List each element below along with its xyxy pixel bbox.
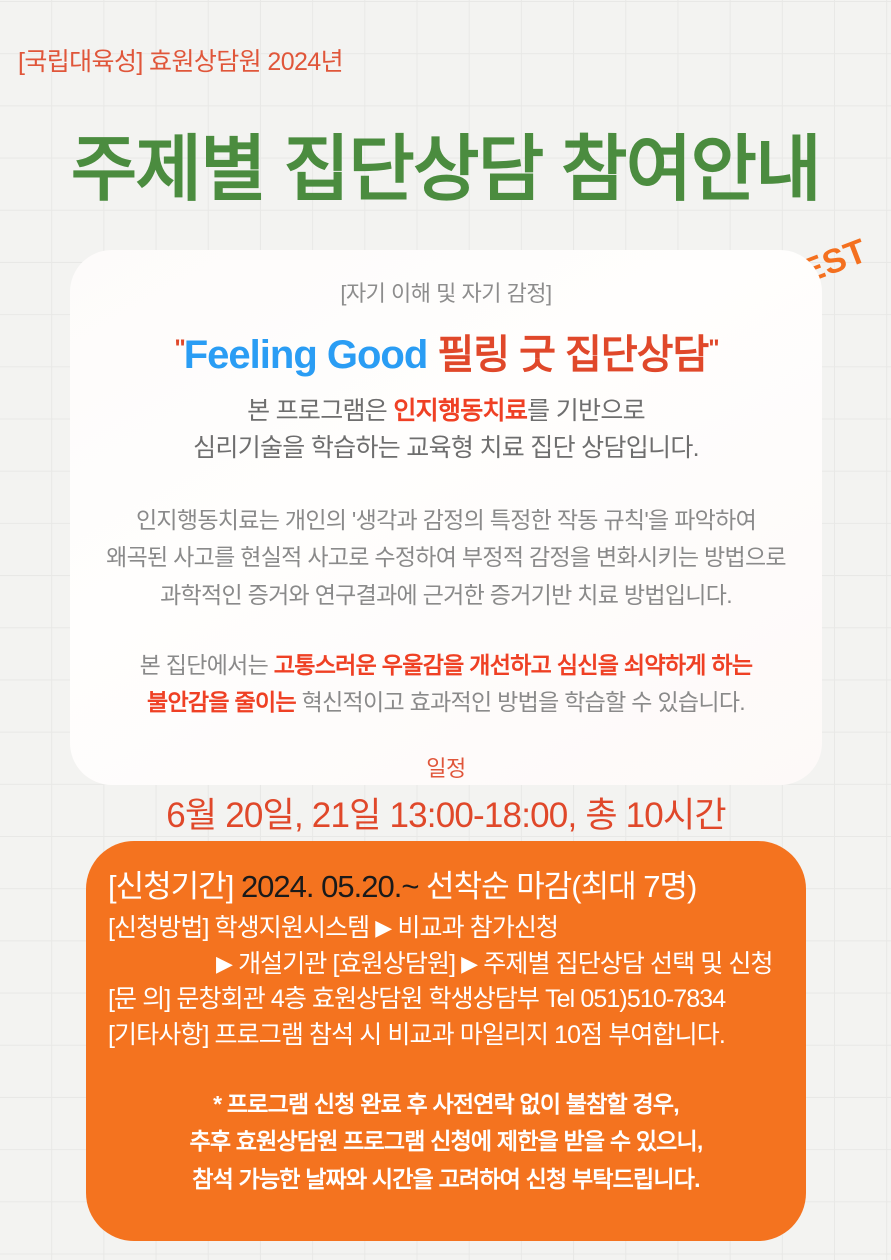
extra-info-line: [기타사항] 프로그램 참석 시 비교과 마일리지 10점 부여합니다. xyxy=(108,1018,784,1054)
contact-label: [문 의] xyxy=(108,985,170,1013)
application-method-line-1: [신청방법] 학생지원시스템 ▶ 비교과 참가신청 xyxy=(108,911,784,947)
triangle-right-icon: ▶ xyxy=(216,951,232,976)
benefit-pre: 본 집단에서는 xyxy=(140,652,274,678)
application-method-step1: 비교과 참가신청 xyxy=(397,914,558,942)
application-method-step2: 개설기관 [효원상담원] xyxy=(238,950,455,978)
notice-line3: 참석 가능한 날짜와 시간을 고려하여 신청 부탁드립니다. xyxy=(192,1166,699,1192)
page-title: 주제별 집단상담 참여안내 xyxy=(0,110,891,215)
program-info-card: [자기 이해 및 자기 감정] "Feeling Good 필링 굿 집단상담"… xyxy=(70,250,822,785)
application-method-system: 학생지원시스템 xyxy=(215,914,370,942)
extra-info-label: [기타사항] xyxy=(108,1021,209,1049)
lead-line1-post: 를 기반으로 xyxy=(527,397,645,425)
application-panel: [신청기간] 2024. 05.20.~ 선착순 마감(최대 7명) [신청방법… xyxy=(86,841,806,1241)
benefit-highlight-2: 불안감을 줄이는 xyxy=(147,689,296,715)
description-line2: 왜곡된 사고를 현실적 사고로 수정하여 부정적 감정을 변화시키는 방법으로 xyxy=(106,544,786,570)
card-eyebrow-label: [자기 이해 및 자기 감정] xyxy=(70,276,822,308)
program-benefits: 본 집단에서는 고통스러운 우울감을 개선하고 심신을 쇠약하게 하는 불안감을… xyxy=(70,647,822,722)
application-method-line-2: ▶ 개설기관 [효원상담원] ▶ 주제별 집단상담 선택 및 신청 xyxy=(108,947,784,983)
schedule-value: 6월 20일, 21일 13:00-18:00, 총 10시간 xyxy=(70,787,822,838)
application-method-label: [신청방법] xyxy=(108,914,209,942)
contact-line: [문 의] 문창회관 4층 효원상담원 학생상담부 Tel 051)510-78… xyxy=(108,982,784,1018)
program-title-english: Feeling Good xyxy=(184,333,428,377)
notice-line1: * 프로그램 신청 완료 후 사전연락 없이 불참할 경우, xyxy=(213,1091,679,1117)
close-quote: " xyxy=(708,335,717,362)
triangle-right-icon: ▶ xyxy=(375,915,391,940)
application-period-label: [신청기간] xyxy=(108,869,233,904)
extra-info-text: 프로그램 참석 시 비교과 마일리지 10점 부여합니다. xyxy=(215,1021,725,1049)
program-lead-text: 본 프로그램은 인지행동치료를 기반으로 심리기술을 학습하는 교육형 치료 집… xyxy=(70,393,822,466)
benefit-highlight-1: 고통스러운 우울감을 개선하고 심신을 쇠약하게 하는 xyxy=(274,652,753,678)
cancellation-notice: * 프로그램 신청 완료 후 사전연락 없이 불참할 경우, 추후 효원상담원 … xyxy=(108,1086,784,1198)
program-title-korean: 필링 굿 집단상담 xyxy=(437,333,708,377)
organization-line: [국립대육성] 효원상담원 2024년 xyxy=(18,42,343,78)
description-line1: 인지행동치료는 개인의 '생각과 감정의 특정한 작동 규칙'을 파악하여 xyxy=(136,507,756,533)
lead-line2: 심리기술을 학습하는 교육형 치료 집단 상담입니다. xyxy=(193,434,699,462)
application-period-line: [신청기간] 2024. 05.20.~ 선착순 마감(최대 7명) xyxy=(108,865,784,909)
description-line3: 과학적인 증거와 연구결과에 근거한 증거기반 치료 방법입니다. xyxy=(160,582,732,608)
notice-line2: 추후 효원상담원 프로그램 신청에 제한을 받을 수 있으니, xyxy=(189,1128,702,1154)
open-quote: " xyxy=(174,335,183,362)
benefit-post: 혁신적이고 효과적인 방법을 학습할 수 있습니다. xyxy=(296,689,745,715)
contact-details: 문창회관 4층 효원상담원 학생상담부 Tel 051)510-7834 xyxy=(176,985,725,1013)
program-title: "Feeling Good 필링 굿 집단상담" xyxy=(70,322,822,380)
application-method-step3: 주제별 집단상담 선택 및 신청 xyxy=(483,950,772,978)
triangle-right-icon: ▶ xyxy=(461,951,477,976)
program-description: 인지행동치료는 개인의 '생각과 감정의 특정한 작동 규칙'을 파악하여 왜곡… xyxy=(70,502,822,614)
schedule-label: 일정 xyxy=(70,751,822,783)
lead-line1-pre: 본 프로그램은 xyxy=(247,397,393,425)
application-period-date: 2024. 05.20.~ xyxy=(241,869,418,904)
application-period-rest: 선착순 마감(최대 7명) xyxy=(426,869,696,904)
lead-line1-highlight: 인지행동치료 xyxy=(393,397,527,425)
